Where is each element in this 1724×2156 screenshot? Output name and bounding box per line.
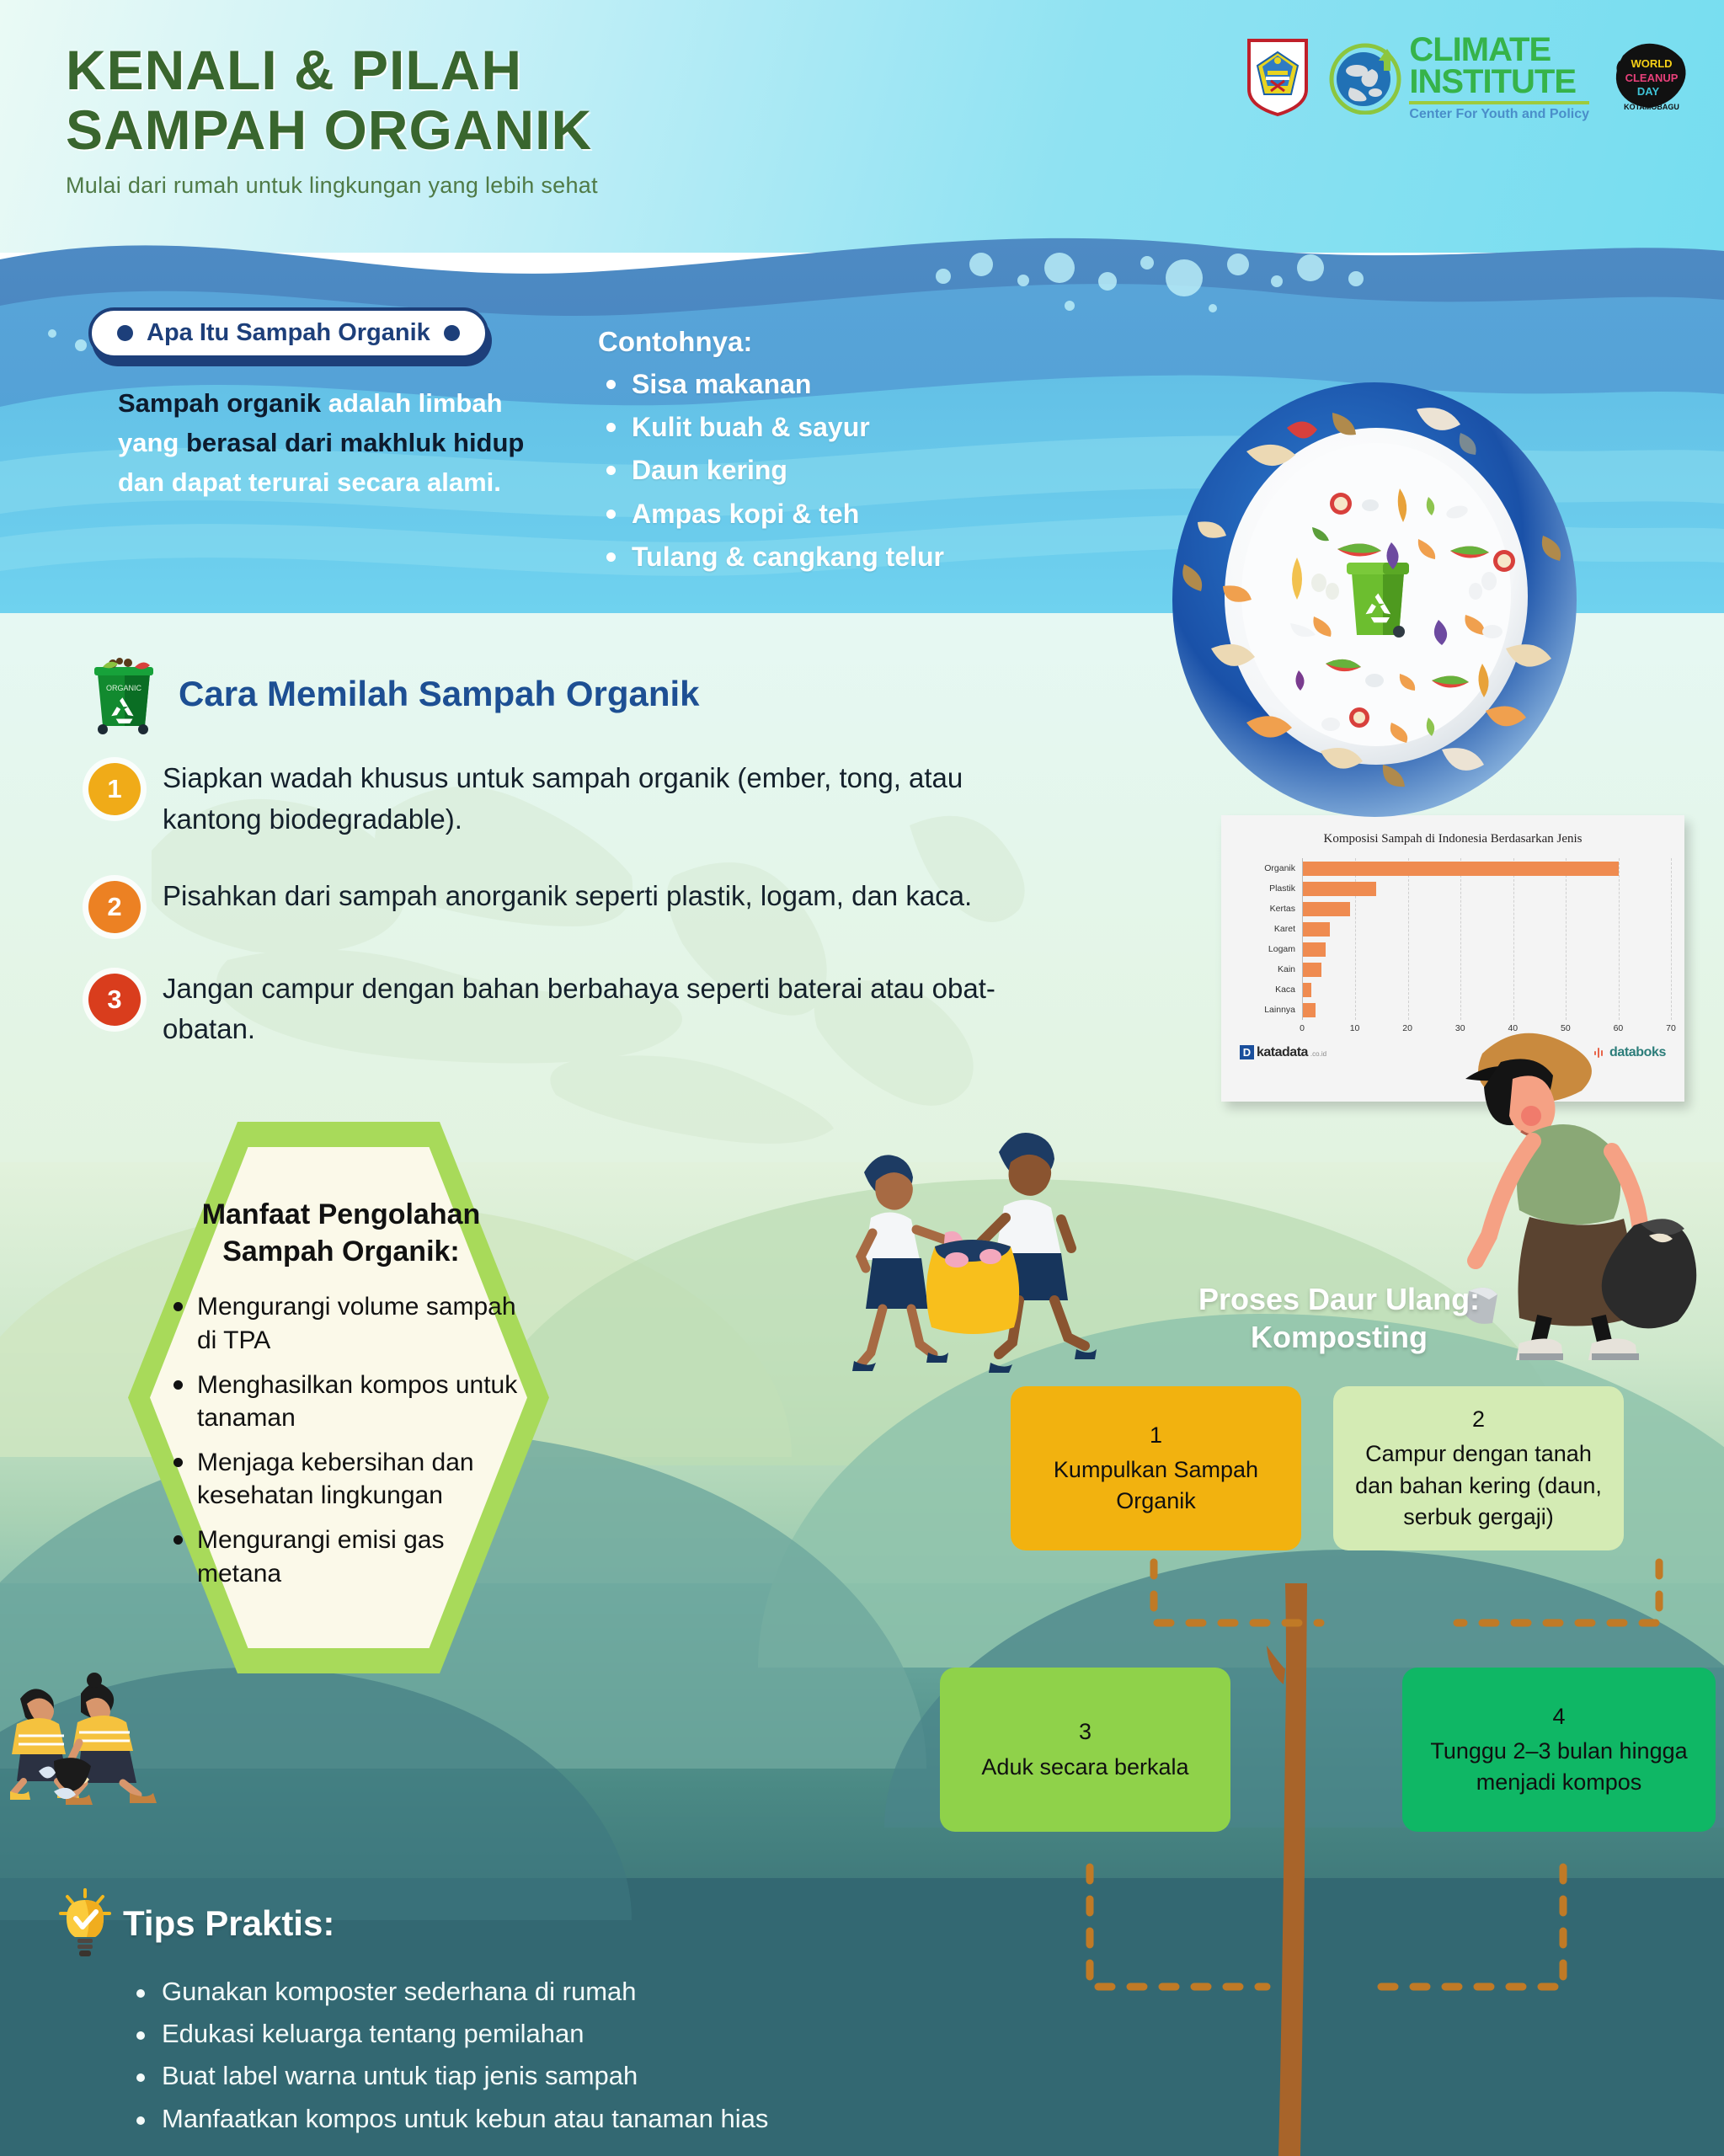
list-item: Menghasilkan kompos untuk tanaman: [167, 1369, 522, 1435]
chart-category-label: Kaca: [1235, 979, 1302, 1000]
climate-institute-line1: CLIMATE: [1409, 34, 1589, 66]
examples-block: Contohnya: Sisa makanan Kulit buah & say…: [598, 326, 944, 579]
list-item: Ampas kopi & teh: [598, 493, 944, 536]
chart-category-label: Karet: [1235, 919, 1302, 939]
chart-bars: [1302, 858, 1671, 1020]
compost-step-2: 2 Campur dengan tanah dan bahan kering (…: [1333, 1386, 1624, 1550]
chart-gridline: [1671, 858, 1672, 1020]
kids-collecting-trash-illustration: [783, 1053, 1120, 1390]
list-item: Gunakan komposter sederhana di rumah: [125, 1971, 768, 2013]
katadata-label: katadata: [1257, 1045, 1308, 1060]
compost-connector-dashes-top: [1120, 1554, 1710, 1672]
chart-category-label: Plastik: [1235, 878, 1302, 899]
chart-bar: [1303, 1003, 1316, 1017]
page-title-line2: SAMPAH ORGANIK: [66, 100, 598, 160]
climate-institute-line2: INSTITUTE: [1409, 66, 1589, 98]
list-item: 2 Pisahkan dari sampah anorganik seperti…: [88, 876, 1015, 933]
chart-bar-row: [1303, 899, 1671, 919]
step-badge: 2: [88, 881, 141, 933]
svg-text:DAY: DAY: [1637, 85, 1660, 98]
chart-category-labels: OrganikPlastikKertasKaretLogamKainKacaLa…: [1235, 858, 1302, 1020]
step-text: Jangan campur dengan bahan berbahaya sep…: [163, 969, 1015, 1051]
compost-step-text: Aduk secara berkala: [955, 1752, 1215, 1783]
chart-category-label: Logam: [1235, 939, 1302, 959]
sorting-steps-list: 1 Siapkan wadah khusus untuk sampah orga…: [88, 758, 1015, 1086]
definition-body: Sampah organik adalah limbah yang berasa…: [118, 383, 547, 502]
chart-bar: [1303, 963, 1321, 977]
tips-list: Gunakan komposter sederhana di rumah Edu…: [125, 1971, 768, 2140]
compost-step-text: Campur dengan tanah dan bahan kering (da…: [1348, 1438, 1609, 1533]
chart-category-label: Kertas: [1235, 899, 1302, 919]
composting-title: Proses Daur Ulang: Komposting: [1162, 1280, 1516, 1356]
list-item: 3 Jangan campur dengan bahan berbahaya s…: [88, 969, 1015, 1051]
chart-bar-row: [1303, 959, 1671, 979]
kotamobagu-crest-icon: [1246, 37, 1310, 117]
climate-institute-rule: [1409, 101, 1589, 104]
list-item: 1 Siapkan wadah khusus untuk sampah orga…: [88, 758, 1015, 841]
page-title-line1: KENALI & PILAH: [66, 40, 598, 100]
list-item: Daun kering: [598, 449, 944, 492]
chart-bar-row: [1303, 919, 1671, 939]
step-text: Pisahkan dari sampah anorganik seperti p…: [163, 876, 972, 917]
list-item: Menjaga kebersihan dan kesehatan lingkun…: [167, 1446, 522, 1513]
compost-step-text: Kumpulkan Sampah Organik: [1026, 1454, 1286, 1518]
step-badge: 1: [88, 763, 141, 815]
world-cleanup-day-logo: WORLD CLEANUP DAY KOTAMOBAGU: [1608, 37, 1692, 117]
logo-group: CLIMATE INSTITUTE Center For Youth and P…: [1246, 34, 1692, 120]
step-text: Siapkan wadah khusus untuk sampah organi…: [163, 758, 1015, 841]
list-item: Sisa makanan: [598, 363, 944, 406]
chart-title: Komposisi Sampah di Indonesia Berdasarka…: [1235, 832, 1671, 846]
katadata-suffix: .co.id: [1310, 1050, 1326, 1058]
chart-bar: [1303, 983, 1311, 997]
list-item: Kulit buah & sayur: [598, 406, 944, 449]
svg-text:WORLD: WORLD: [1631, 57, 1672, 70]
katadata-source: D katadata .co.id: [1240, 1045, 1326, 1060]
svg-text:KOTAMOBAGU: KOTAMOBAGU: [1624, 103, 1679, 111]
chart-bar-row: [1303, 939, 1671, 959]
sorting-section-heading: Cara Memilah Sampah Organik: [179, 674, 700, 714]
chart-category-label: Organik: [1235, 858, 1302, 878]
compost-step-number: 2: [1348, 1404, 1609, 1435]
infographic-page: KENALI & PILAH SAMPAH ORGANIK Mulai dari…: [0, 0, 1724, 2156]
benefits-content: Manfaat Pengolahan Sampah Organik: Mengu…: [160, 1196, 522, 1601]
chart-bar: [1303, 902, 1350, 916]
organic-waste-plate-illustration: [1139, 371, 1610, 825]
organic-bin-icon: ORGANIC: [91, 655, 157, 735]
chart-bar: [1303, 942, 1326, 957]
list-item: Edukasi keluarga tentang pemilahan: [125, 2013, 768, 2055]
bullet-dot-left-icon: [117, 325, 133, 341]
volunteers-illustration: [8, 1663, 160, 1806]
chart-bar-row: [1303, 878, 1671, 899]
compost-step-3: 3 Aduk secara berkala: [940, 1668, 1230, 1832]
list-item: Manfaatkan kompos untuk kebun atau tanam…: [125, 2098, 768, 2140]
chart-bar-row: [1303, 979, 1671, 1000]
compost-step-number: 1: [1026, 1420, 1286, 1451]
compost-step-4: 4 Tunggu 2–3 bulan hingga menjadi kompos: [1402, 1668, 1716, 1832]
header: KENALI & PILAH SAMPAH ORGANIK Mulai dari…: [66, 40, 598, 199]
compost-step-text: Tunggu 2–3 bulan hingga menjadi kompos: [1417, 1736, 1700, 1799]
chart-bar-row: [1303, 858, 1671, 878]
svg-text:ORGANIC: ORGANIC: [106, 684, 142, 692]
benefits-list: Mengurangi volume sampah di TPA Menghasi…: [160, 1290, 522, 1590]
chart-x-tick: 20: [1402, 1023, 1412, 1033]
composting-title-line1: Proses Daur Ulang:: [1162, 1280, 1516, 1318]
lightbulb-icon: [59, 1886, 111, 1961]
list-item: Tulang & cangkang telur: [598, 536, 944, 579]
list-item: Buat label warna untuk tiap jenis sampah: [125, 2055, 768, 2097]
definition-pill-label: Apa Itu Sampah Organik: [147, 319, 430, 347]
tips-heading: Tips Praktis:: [123, 1903, 334, 1944]
examples-list: Sisa makanan Kulit buah & sayur Daun ker…: [598, 363, 944, 579]
definition-part-3: dan dapat terurai secara alami.: [118, 467, 501, 497]
globe-icon: [1328, 40, 1402, 115]
compost-step-number: 3: [955, 1716, 1215, 1748]
chart-bar: [1303, 922, 1330, 937]
bullet-dot-right-icon: [444, 325, 460, 341]
composting-title-line2: Komposting: [1162, 1318, 1516, 1356]
chart-bar: [1303, 862, 1619, 876]
chart-category-label: Kain: [1235, 959, 1302, 979]
chart-bar: [1303, 882, 1376, 896]
list-item: Mengurangi emisi gas metana: [167, 1524, 522, 1590]
climate-institute-tagline: Center For Youth and Policy: [1409, 108, 1589, 120]
examples-title: Contohnya:: [598, 326, 944, 358]
page-subtitle: Mulai dari rumah untuk lingkungan yang l…: [66, 173, 598, 199]
chart-x-tick: 0: [1300, 1023, 1305, 1033]
climate-institute-logo: CLIMATE INSTITUTE Center For Youth and P…: [1328, 34, 1589, 120]
svg-text:CLEANUP: CLEANUP: [1625, 72, 1679, 84]
chart-category-label: Lainnya: [1235, 1000, 1302, 1020]
compost-connector-dashes-bottom: [1061, 1840, 1724, 2000]
compost-step-number: 4: [1417, 1701, 1700, 1732]
step-badge: 3: [88, 974, 141, 1026]
definition-part-2: berasal dari makhluk hidup: [186, 428, 524, 457]
benefits-title: Manfaat Pengolahan Sampah Organik:: [160, 1196, 522, 1270]
definition-part-0: Sampah organik: [118, 388, 328, 418]
chart-plot-area: OrganikPlastikKertasKaretLogamKainKacaLa…: [1235, 858, 1671, 1020]
definition-pill: Apa Itu Sampah Organik: [88, 307, 488, 359]
chart-x-tick: 10: [1350, 1023, 1360, 1033]
compost-step-1: 1 Kumpulkan Sampah Organik: [1011, 1386, 1301, 1550]
list-item: Mengurangi volume sampah di TPA: [167, 1290, 522, 1357]
katadata-mark-icon: D: [1240, 1045, 1254, 1059]
